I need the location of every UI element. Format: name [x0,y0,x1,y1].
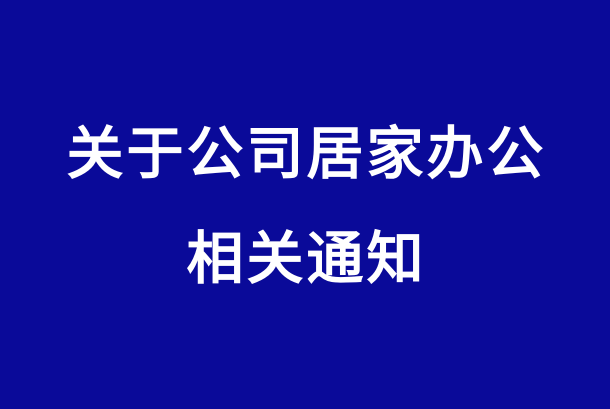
notice-banner: 关于公司居家办公 相关通知 [0,0,610,409]
notice-title-line-1: 关于公司居家办公 [0,126,610,183]
notice-title-line-2: 相关通知 [0,231,610,288]
